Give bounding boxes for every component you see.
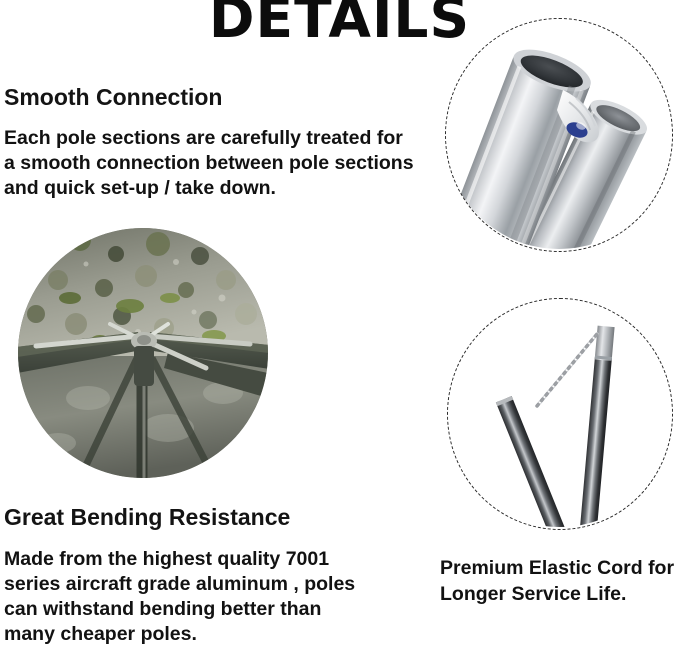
bending-resistance-body: Made from the highest quality 7001 serie…: [4, 547, 355, 647]
body-line: Each pole sections are carefully treated…: [4, 126, 414, 151]
body-line: series aircraft grade aluminum , poles: [4, 572, 355, 597]
body-line: Made from the highest quality 7001: [4, 547, 355, 572]
body-line: many cheaper poles.: [4, 622, 355, 647]
body-line: can withstand bending better than: [4, 597, 355, 622]
elastic-cord-caption: Premium Elastic Cord for Longer Service …: [440, 555, 674, 607]
caption-line: Premium Elastic Cord for: [440, 555, 674, 581]
tent-corner-illustration: [18, 228, 268, 478]
caption-line: Longer Service Life.: [440, 581, 674, 607]
body-line: and quick set-up / take down.: [4, 176, 414, 201]
tube-photo-dashed-border: [445, 18, 673, 252]
bending-resistance-heading: Great Bending Resistance: [4, 505, 290, 530]
smooth-connection-body: Each pole sections are carefully treated…: [4, 126, 414, 201]
pole-photo-dashed-border: [447, 298, 673, 530]
body-line: a smooth connection between pole section…: [4, 151, 414, 176]
tent-pole-corner-photo: [18, 228, 268, 478]
smooth-connection-heading: Smooth Connection: [4, 85, 222, 110]
